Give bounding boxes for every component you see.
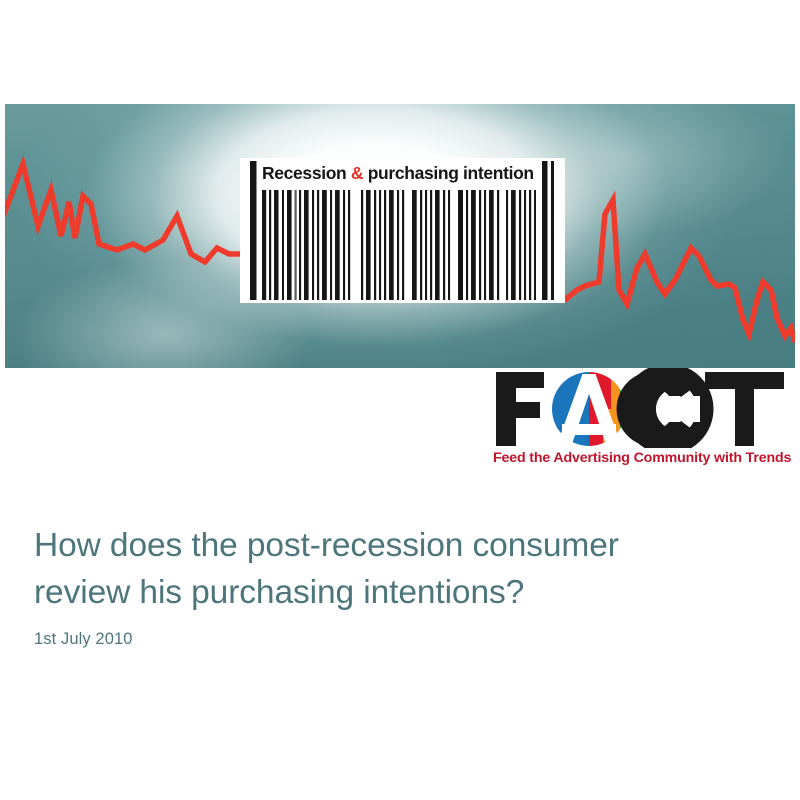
page-title: How does the post-recession consumer rev… xyxy=(34,522,754,616)
fact-logo: Feed the Advertising Community with Tren… xyxy=(492,368,792,480)
logo-letter-c xyxy=(617,371,705,447)
recession-banner: Recession & purchasing intention xyxy=(5,104,795,368)
logo-tagline: Feed the Advertising Community with Tren… xyxy=(493,450,793,466)
barcode-caption-prefix: Recession xyxy=(262,163,351,183)
fact-wordmark xyxy=(492,368,792,448)
logo-letter-f xyxy=(496,372,544,446)
page-title-line-2: review his purchasing intentions? xyxy=(34,569,754,616)
barcode-caption-ampersand: & xyxy=(351,163,363,183)
trend-line-left xyxy=(5,163,251,262)
page-title-line-1: How does the post-recession consumer xyxy=(34,522,754,569)
barcode-caption-suffix: purchasing intention xyxy=(363,163,534,183)
barcode-graphic: Recession & purchasing intention xyxy=(240,158,565,303)
barcode-caption: Recession & purchasing intention xyxy=(262,160,552,186)
logo-letter-t xyxy=(705,372,784,446)
publication-date: 1st July 2010 xyxy=(34,630,133,649)
trend-line-right xyxy=(553,162,795,342)
